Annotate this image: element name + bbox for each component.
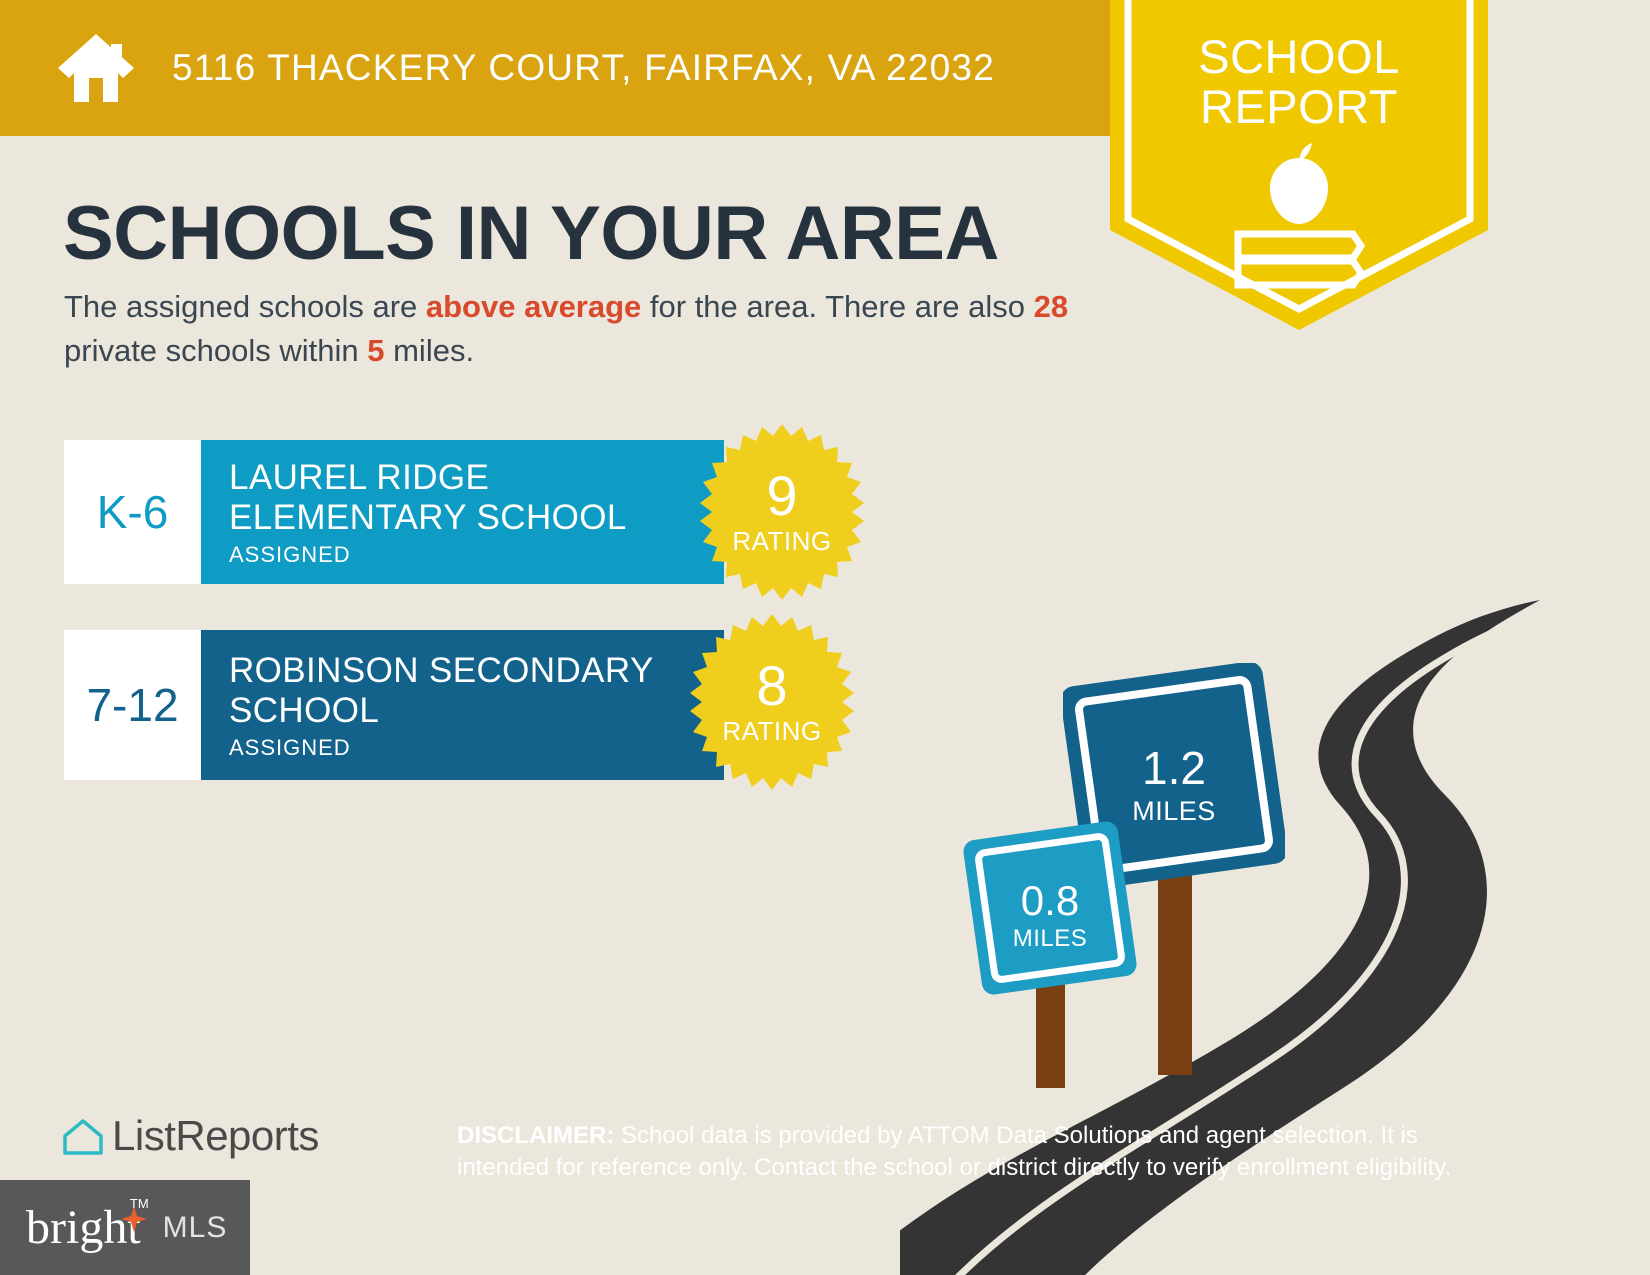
subtitle-text-2: for the area. There are also [641,289,1033,324]
school-info: ROBINSON SECONDARY SCHOOL ASSIGNED [201,630,724,780]
disclaimer-text: DISCLAIMER: School data is provided by A… [457,1120,1497,1184]
school-report-page: 5116 THACKERY COURT, FAIRFAX, VA 22032 S… [0,0,1650,1275]
school-name-line-2: SCHOOL [229,691,724,731]
listreports-logo: ListReports [62,1112,319,1160]
sign-shape [960,820,1140,1090]
subtitle-text-4: miles. [385,333,475,368]
page-title: SCHOOLS IN YOUR AREA [63,190,999,277]
subtitle-highlight-radius: 5 [367,333,384,368]
grade-range-label: 7-12 [86,678,178,732]
school-row-elementary[interactable]: K-6 LAUREL RIDGE ELEMENTARY SCHOOL ASSIG… [64,440,724,584]
badge-line-2: REPORT [1110,82,1488,132]
grade-range-badge: K-6 [64,440,201,584]
sign-distance-value: 1.2 [1063,745,1285,791]
bright-wordmark: bright TM [26,1200,141,1255]
subtitle-text-1: The assigned schools are [64,289,426,324]
school-info: LAUREL RIDGE ELEMENTARY SCHOOL ASSIGNED [201,440,724,584]
school-report-badge: SCHOOL REPORT [1110,0,1488,330]
badge-line-1: SCHOOL [1110,32,1488,82]
trademark-symbol: TM [130,1196,149,1211]
house-outline-icon [62,1116,104,1156]
listreports-wordmark: ListReports [112,1112,319,1160]
home-icon [56,32,136,104]
mls-text: MLS [163,1211,228,1245]
sign-distance-value: 0.8 [960,880,1140,922]
subtitle-highlight-rating: above average [426,289,641,324]
rating-value: 9 [694,468,870,524]
rating-label: RATING [694,526,870,557]
rating-label: RATING [684,716,860,747]
rating-starburst-elementary: 9 RATING [694,424,870,600]
sign-distance-unit: MILES [960,925,1140,953]
school-name-line-1: ROBINSON SECONDARY [229,651,724,691]
school-name-line-2: ELEMENTARY SCHOOL [229,498,724,538]
disclaimer-label: DISCLAIMER: [457,1122,614,1149]
rating-value: 8 [684,658,860,714]
grade-range-label: K-6 [97,485,169,539]
grade-range-badge: 7-12 [64,630,201,780]
school-status-label: ASSIGNED [229,735,724,761]
page-subtitle: The assigned schools are above average f… [64,285,1094,373]
subtitle-highlight-count: 28 [1034,289,1068,324]
badge-title: SCHOOL REPORT [1110,32,1488,132]
property-address: 5116 THACKERY COURT, FAIRFAX, VA 22032 [172,47,995,89]
school-row-secondary[interactable]: 7-12 ROBINSON SECONDARY SCHOOL ASSIGNED [64,630,724,780]
school-status-label: ASSIGNED [229,542,724,568]
bright-mls-logo: bright TM MLS [0,1180,250,1275]
school-name-line-1: LAUREL RIDGE [229,458,724,498]
subtitle-text-3: private schools within [64,333,367,368]
rating-starburst-secondary: 8 RATING [684,614,860,790]
header-bar: 5116 THACKERY COURT, FAIRFAX, VA 22032 [0,0,1110,136]
distance-sign-elementary: 0.8 MILES [960,820,1140,1090]
